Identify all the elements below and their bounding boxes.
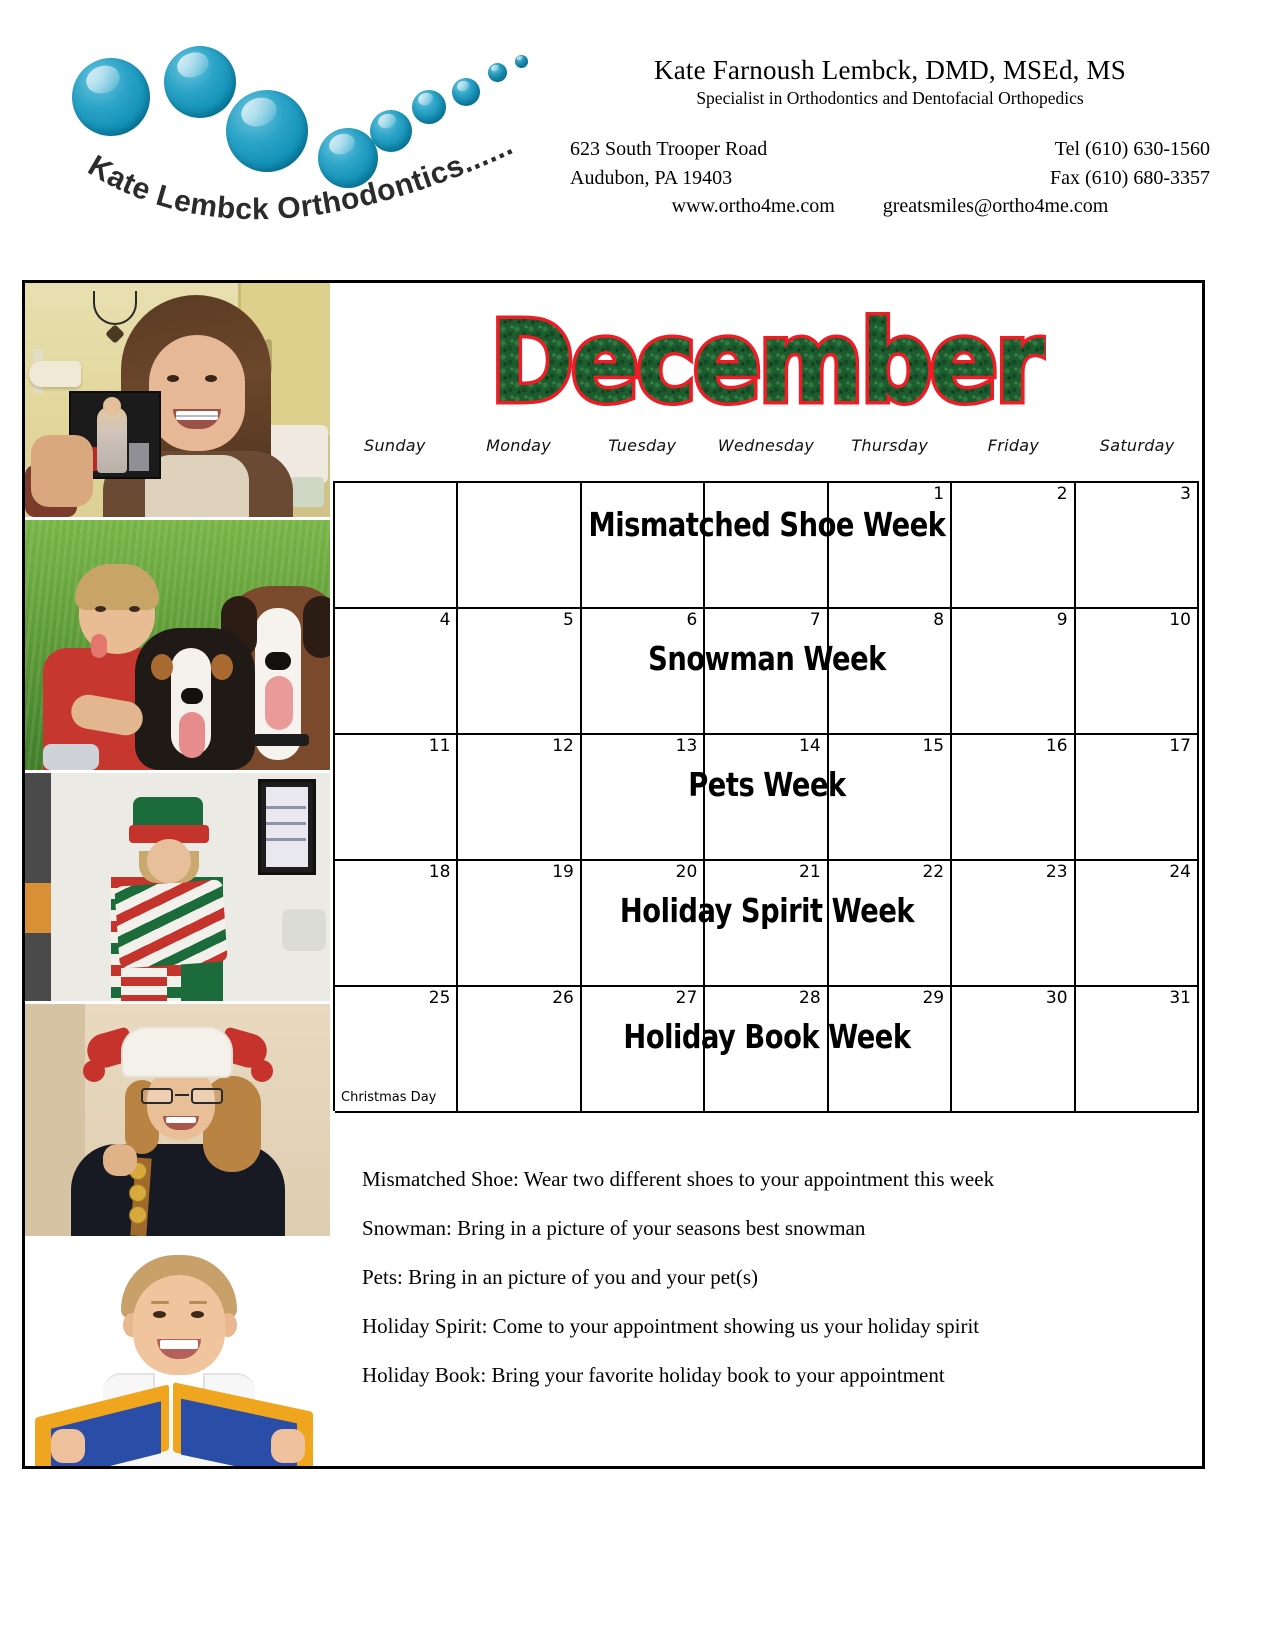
- calendar-week-row: 25 Christmas Day 26 27 28 29 30 31 Holid…: [335, 987, 1199, 1113]
- day-number: 22: [829, 864, 944, 882]
- day-cell[interactable]: 4: [335, 609, 458, 733]
- legend-item-pets: Pets: Bring in an picture of you and you…: [362, 1266, 1162, 1289]
- day-cell[interactable]: 5: [458, 609, 581, 733]
- day-number: 24: [1076, 864, 1191, 882]
- day-number: 16: [952, 738, 1067, 756]
- weekday-header-row: Sunday Monday Tuesday Wednesday Thursday…: [330, 423, 1202, 457]
- day-cell[interactable]: 16: [952, 735, 1075, 859]
- day-cell[interactable]: 8: [829, 609, 952, 733]
- day-cell[interactable]: 21: [705, 861, 828, 985]
- day-cell[interactable]: 14: [705, 735, 828, 859]
- calendar-panel: December Sunday Monday Tuesday Wednesday…: [22, 280, 1205, 1469]
- day-number: 10: [1076, 612, 1191, 630]
- month-title: December: [330, 283, 1202, 423]
- december-calendar: December Sunday Monday Tuesday Wednesday…: [330, 283, 1202, 1466]
- doctor-name: Kate Farnoush Lembck, DMD, MSEd, MS: [560, 55, 1220, 86]
- weekday-thursday: Thursday: [828, 436, 952, 455]
- weekday-wednesday: Wednesday: [704, 436, 828, 455]
- day-number: 31: [1076, 990, 1191, 1008]
- day-number: 8: [829, 612, 944, 630]
- day-number: 17: [1076, 738, 1191, 756]
- day-cell[interactable]: [458, 483, 581, 607]
- logo-text: Kate Lembck Orthodontics......: [82, 128, 517, 226]
- address-line-1: 623 South Trooper Road: [560, 135, 860, 164]
- photo-strip: [25, 283, 330, 1466]
- practice-contact-block: Kate Farnoush Lembck, DMD, MSEd, MS Spec…: [560, 55, 1220, 223]
- legend-item-mismatched-shoe: Mismatched Shoe: Wear two different shoe…: [362, 1168, 1162, 1191]
- day-number: 15: [829, 738, 944, 756]
- day-cell[interactable]: 25 Christmas Day: [335, 987, 458, 1111]
- day-cell[interactable]: 3: [1076, 483, 1199, 607]
- day-number: 2: [952, 486, 1067, 504]
- doctor-specialty: Specialist in Orthodontics and Dentofaci…: [560, 88, 1220, 109]
- day-number: 12: [458, 738, 573, 756]
- calendar-week-row: 11 12 13 14 15 16 17 Pets Week: [335, 735, 1199, 861]
- day-cell[interactable]: 24: [1076, 861, 1199, 985]
- day-number: 26: [458, 990, 573, 1008]
- email-link[interactable]: greatsmiles@ortho4me.com: [883, 195, 1109, 218]
- weekday-tuesday: Tuesday: [580, 436, 704, 455]
- calendar-grid: 1 2 3 Mismatched Shoe Week 4 5 6 7 8 9 1…: [333, 481, 1199, 1111]
- logo-arc-text: Kate Lembck Orthodontics......: [40, 84, 570, 244]
- day-cell[interactable]: 2: [952, 483, 1075, 607]
- day-cell[interactable]: 19: [458, 861, 581, 985]
- day-cell[interactable]: 17: [1076, 735, 1199, 859]
- legend-item-holiday-book: Holiday Book: Bring your favorite holida…: [362, 1364, 1162, 1387]
- practice-logo: Kate Lembck Orthodontics......: [40, 28, 570, 243]
- day-cell[interactable]: [705, 483, 828, 607]
- day-number: 28: [705, 990, 820, 1008]
- day-cell[interactable]: 31: [1076, 987, 1199, 1111]
- day-cell[interactable]: 10: [1076, 609, 1199, 733]
- day-cell[interactable]: 15: [829, 735, 952, 859]
- day-number: 3: [1076, 486, 1191, 504]
- day-number: 5: [458, 612, 573, 630]
- day-number: 1: [829, 486, 944, 504]
- telephone: Tel (610) 630-1560: [920, 135, 1220, 164]
- day-number: 9: [952, 612, 1067, 630]
- legend-item-holiday-spirit: Holiday Spirit: Come to your appointment…: [362, 1315, 1162, 1338]
- day-cell[interactable]: [335, 483, 458, 607]
- address-line-2: Audubon, PA 19403: [560, 164, 860, 193]
- day-number: 19: [458, 864, 573, 882]
- day-number: 27: [582, 990, 697, 1008]
- day-cell[interactable]: 22: [829, 861, 952, 985]
- day-number: 11: [335, 738, 450, 756]
- photo-girl-elf-costume: [25, 773, 330, 1001]
- day-number: 25: [335, 990, 450, 1008]
- weekday-sunday: Sunday: [333, 436, 457, 455]
- day-cell[interactable]: 29: [829, 987, 952, 1111]
- month-title-art: December: [486, 297, 1046, 427]
- day-number: 23: [952, 864, 1067, 882]
- calendar-week-row: 1 2 3 Mismatched Shoe Week: [335, 483, 1199, 609]
- fax: Fax (610) 680-3357: [920, 164, 1220, 193]
- website-link[interactable]: www.ortho4me.com: [672, 195, 835, 218]
- page-header: Kate Lembck Orthodontics...... Kate Farn…: [0, 0, 1275, 272]
- day-cell[interactable]: 1: [829, 483, 952, 607]
- day-number: 20: [582, 864, 697, 882]
- legend-item-snowman: Snowman: Bring in a picture of your seas…: [362, 1217, 1162, 1240]
- weekday-saturday: Saturday: [1075, 436, 1199, 455]
- calendar-week-row: 18 19 20 21 22 23 24 Holiday Spirit Week: [335, 861, 1199, 987]
- day-number: 30: [952, 990, 1067, 1008]
- logo-bubble-icon: [488, 63, 507, 82]
- day-number: 13: [582, 738, 697, 756]
- day-cell[interactable]: 26: [458, 987, 581, 1111]
- photo-girl-braces-holding-picture: [25, 283, 330, 517]
- day-cell[interactable]: 23: [952, 861, 1075, 985]
- svg-text:December: December: [490, 298, 1045, 427]
- day-number: 4: [335, 612, 450, 630]
- day-cell[interactable]: 20: [582, 861, 705, 985]
- day-number: 6: [582, 612, 697, 630]
- photo-woman-santa-hat: [25, 1004, 330, 1236]
- weekday-friday: Friday: [952, 436, 1076, 455]
- calendar-week-row: 4 5 6 7 8 9 10 Snowman Week: [335, 609, 1199, 735]
- day-cell[interactable]: 18: [335, 861, 458, 985]
- day-cell[interactable]: 27: [582, 987, 705, 1111]
- activity-legend: Mismatched Shoe: Wear two different shoe…: [362, 1168, 1162, 1413]
- photo-boy-reading-book: [25, 1239, 330, 1466]
- day-cell[interactable]: 9: [952, 609, 1075, 733]
- weekday-monday: Monday: [457, 436, 581, 455]
- day-cell[interactable]: 30: [952, 987, 1075, 1111]
- day-cell[interactable]: 28: [705, 987, 828, 1111]
- day-number: 14: [705, 738, 820, 756]
- day-cell[interactable]: 12: [458, 735, 581, 859]
- day-cell[interactable]: 13: [582, 735, 705, 859]
- logo-bubble-icon: [515, 55, 528, 68]
- day-cell[interactable]: [582, 483, 705, 607]
- day-number: 21: [705, 864, 820, 882]
- day-number: 7: [705, 612, 820, 630]
- day-cell[interactable]: 7: [705, 609, 828, 733]
- day-holiday-note: Christmas Day: [341, 1090, 436, 1105]
- day-number: 29: [829, 990, 944, 1008]
- day-cell[interactable]: 11: [335, 735, 458, 859]
- photo-boy-with-two-dogs: [25, 520, 330, 770]
- day-number: 18: [335, 864, 450, 882]
- day-cell[interactable]: 6: [582, 609, 705, 733]
